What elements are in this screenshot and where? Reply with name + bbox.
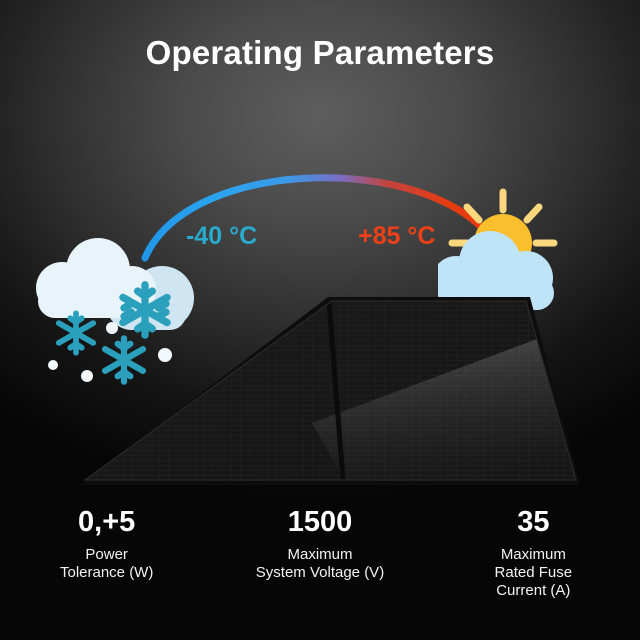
- stat-system-voltage: 1500 Maximum System Voltage (V): [213, 505, 426, 582]
- stats-row: 0,+5 Power Tolerance (W) 1500 Maximum Sy…: [0, 505, 640, 600]
- stat-power-tolerance: 0,+5 Power Tolerance (W): [0, 505, 213, 582]
- stat-label: Maximum System Voltage (V): [213, 546, 426, 582]
- infographic-card: Operating Parameters -40 °C +85 °C: [0, 0, 640, 640]
- max-temperature-label: +85 °C: [358, 222, 435, 251]
- stat-label: Power Tolerance (W): [0, 546, 213, 582]
- page-title: Operating Parameters: [0, 34, 640, 72]
- stat-label: Maximum Rated Fuse Current (A): [427, 546, 640, 600]
- stat-fuse-current: 35 Maximum Rated Fuse Current (A): [427, 505, 640, 600]
- stat-value: 0,+5: [0, 505, 213, 539]
- stat-value: 35: [427, 505, 640, 539]
- stat-value: 1500: [213, 505, 426, 539]
- solar-panel-icon: [60, 295, 580, 490]
